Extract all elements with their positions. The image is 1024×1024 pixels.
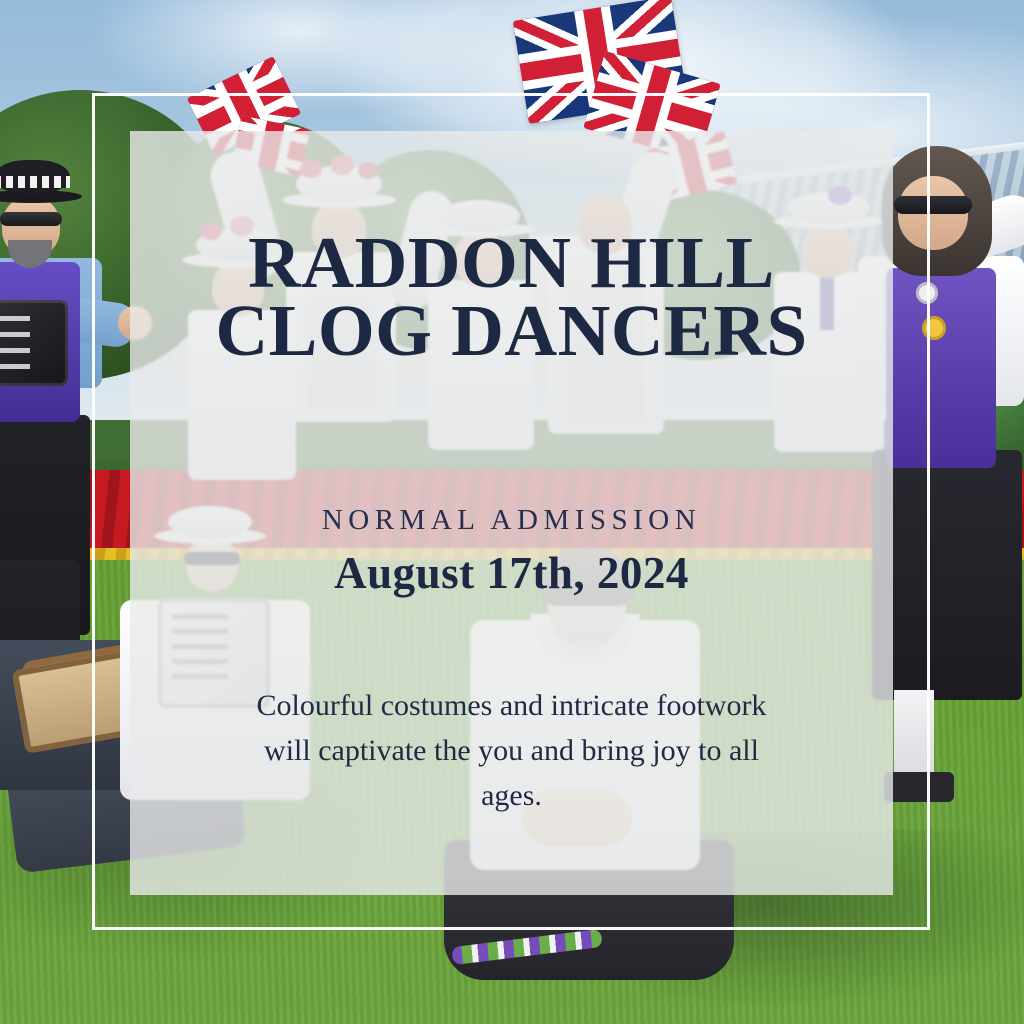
title-line-2: CLOG DANCERS: [215, 297, 807, 365]
admission-label: NORMAL ADMISSION: [322, 504, 701, 537]
event-description: Colourful costumes and intricate footwor…: [252, 683, 772, 818]
poster-canvas: RADDON HILL CLOG DANCERS NORMAL ADMISSIO…: [0, 0, 1024, 1024]
event-date: August 17th, 2024: [334, 547, 689, 599]
page-title: RADDON HILL CLOG DANCERS: [215, 229, 807, 365]
poster-text-content: RADDON HILL CLOG DANCERS NORMAL ADMISSIO…: [130, 131, 893, 895]
